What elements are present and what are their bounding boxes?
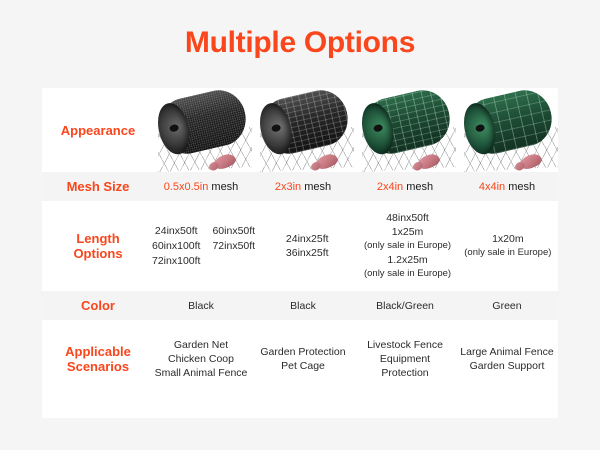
- page-title: Multiple Options: [0, 26, 600, 60]
- appearance-cell-2: [252, 88, 354, 172]
- length-value: 24inx25ft: [286, 232, 329, 246]
- scenario-value: Livestock Fence: [367, 338, 443, 352]
- color-cell-4: Green: [456, 291, 558, 320]
- length-value: 1.2x25m: [387, 253, 427, 267]
- length-options-cell-1: 24inx50ft 60inx100ft 72inx100ft 60inx50f…: [150, 201, 257, 291]
- length-options-cell-3: 48inx50ft 1x25m (only sale in Europe) 1.…: [357, 201, 457, 291]
- length-subcolumn-a: 24inx50ft 60inx100ft 72inx100ft: [152, 224, 200, 269]
- mesh-size-unit: mesh: [508, 181, 535, 193]
- length-value: 48inx50ft: [386, 211, 429, 225]
- length-options-cell-4: 1x20m (only sale in Europe): [458, 201, 558, 291]
- scenarios-cell-3: Livestock Fence Equipment Protection: [354, 320, 456, 398]
- table-row-mesh-size: Mesh Size 0.5x0.5in mesh 2x3in mesh 2x4i…: [42, 172, 558, 201]
- appearance-cell-4: [456, 88, 558, 172]
- scenario-value: Small Animal Fence: [155, 366, 248, 380]
- length-note: (only sale in Europe): [364, 239, 451, 253]
- table-row-color: Color Black Black Black/Green Green: [42, 291, 558, 320]
- scenario-value: Large Animal Fence: [460, 345, 553, 359]
- row-label-line1: Length: [46, 231, 150, 246]
- scenario-value: Garden Protection: [260, 345, 345, 359]
- row-label-line2: Scenarios: [46, 359, 150, 374]
- row-label-line2: Options: [46, 246, 150, 261]
- comparison-table: Appearance: [42, 88, 558, 418]
- mesh-size-unit: mesh: [406, 181, 433, 193]
- mesh-size-cell-1: 0.5x0.5in mesh: [150, 172, 252, 201]
- product-image-black-fine-mesh-roll: [150, 88, 252, 172]
- color-value: Black/Green: [376, 299, 434, 313]
- length-value: 60inx100ft: [152, 239, 200, 254]
- scenarios-cell-4: Large Animal Fence Garden Support: [456, 320, 558, 398]
- length-value: 60inx50ft: [212, 224, 255, 239]
- color-cell-3: Black/Green: [354, 291, 456, 320]
- mesh-size-cell-4: 4x4in mesh: [456, 172, 558, 201]
- row-label-color: Color: [42, 298, 150, 313]
- mesh-size-value: 2x4in: [377, 181, 403, 193]
- table-row-applicable-scenarios: Applicable Scenarios Garden Net Chicken …: [42, 320, 558, 398]
- row-label-line1: Applicable: [46, 344, 150, 359]
- length-value: 24inx50ft: [152, 224, 200, 239]
- scenario-value: Garden Support: [470, 359, 545, 373]
- scenario-value: Garden Net: [174, 338, 228, 352]
- row-label-mesh-size: Mesh Size: [42, 179, 150, 194]
- product-comparison-page: Multiple Options Appearance: [0, 0, 600, 450]
- product-image-green-welded-wire-roll: [354, 88, 456, 172]
- mesh-size-unit: mesh: [304, 181, 331, 193]
- length-options-cell-2: 24inx25ft 36inx25ft: [257, 201, 357, 291]
- color-cell-2: Black: [252, 291, 354, 320]
- table-row-appearance: Appearance: [42, 88, 558, 172]
- scenario-value: Chicken Coop: [168, 352, 234, 366]
- appearance-cell-1: [150, 88, 252, 172]
- color-value: Green: [492, 299, 521, 313]
- appearance-cell-3: [354, 88, 456, 172]
- product-image-green-large-grid-roll: [456, 88, 558, 172]
- row-label-applicable-scenarios: Applicable Scenarios: [42, 344, 150, 374]
- mesh-size-value: 0.5x0.5in: [164, 181, 209, 193]
- table-row-length-options: Length Options 24inx50ft 60inx100ft 72in…: [42, 201, 558, 291]
- scenario-value: Pet Cage: [281, 359, 325, 373]
- row-label-appearance: Appearance: [42, 123, 150, 138]
- color-value: Black: [290, 299, 316, 313]
- mesh-size-value: 4x4in: [479, 181, 505, 193]
- length-value: 1x20m: [492, 232, 524, 246]
- length-value: 72inx100ft: [152, 254, 200, 269]
- row-label-length-options: Length Options: [42, 231, 150, 261]
- length-value: 36inx25ft: [286, 246, 329, 260]
- length-value: 1x25m: [392, 225, 424, 239]
- mesh-size-unit: mesh: [211, 181, 238, 193]
- length-note: (only sale in Europe): [364, 267, 451, 281]
- mesh-size-cell-2: 2x3in mesh: [252, 172, 354, 201]
- length-value: 72inx50ft: [212, 239, 255, 254]
- product-image-black-welded-wire-roll: [252, 88, 354, 172]
- scenario-value: Equipment Protection: [356, 352, 454, 380]
- mesh-size-value: 2x3in: [275, 181, 301, 193]
- scenarios-cell-1: Garden Net Chicken Coop Small Animal Fen…: [150, 320, 252, 398]
- scenarios-cell-2: Garden Protection Pet Cage: [252, 320, 354, 398]
- length-subcolumn-b: 60inx50ft 72inx50ft: [212, 224, 255, 269]
- length-note: (only sale in Europe): [464, 246, 551, 260]
- color-cell-1: Black: [150, 291, 252, 320]
- mesh-size-cell-3: 2x4in mesh: [354, 172, 456, 201]
- color-value: Black: [188, 299, 214, 313]
